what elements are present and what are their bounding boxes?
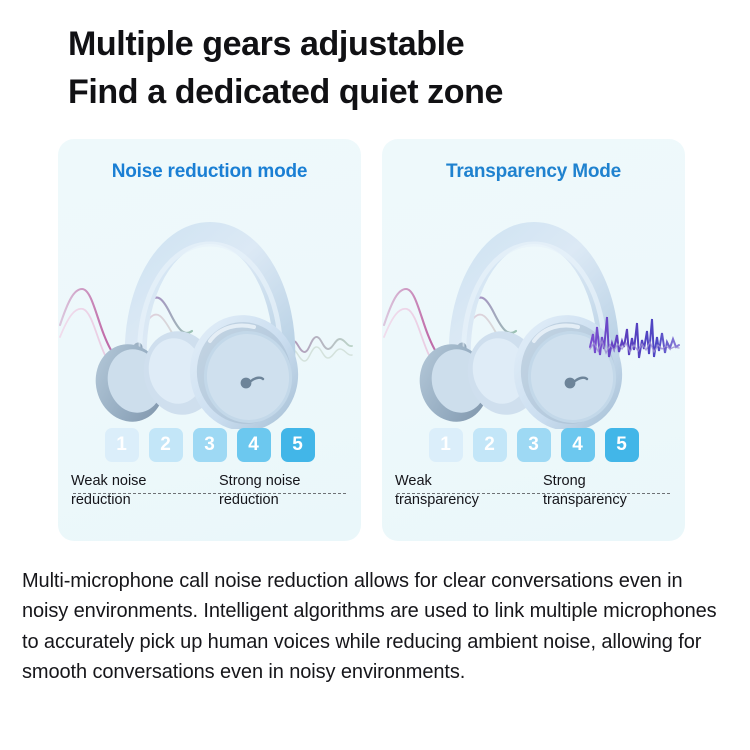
- caption-weak-line-1: Weak: [395, 472, 479, 491]
- caption-weak-line-1: Weak noise: [71, 472, 147, 491]
- gear-tile-2[interactable]: 2: [473, 428, 507, 462]
- gear-tile-2-label: 2: [484, 434, 495, 456]
- gear-tile-3[interactable]: 3: [193, 428, 227, 462]
- gear-tile-3-label: 3: [204, 434, 215, 456]
- card-title-transparency: Transparency Mode: [382, 161, 685, 183]
- gear-tile-3[interactable]: 3: [517, 428, 551, 462]
- gear-tile-4[interactable]: 4: [561, 428, 595, 462]
- caption-strong-line-1: Strong: [543, 472, 627, 491]
- scale-captions-transparency: Weak transparency Strong transparency: [395, 472, 672, 522]
- gear-tile-5-label: 5: [616, 434, 627, 456]
- card-noise-reduction-mode[interactable]: Noise reduction mode: [58, 139, 361, 541]
- gear-tile-5-label: 5: [292, 434, 303, 456]
- gear-tile-2[interactable]: 2: [149, 428, 183, 462]
- scale-divider-line: [397, 493, 670, 494]
- heading-line-2: Find a dedicated quiet zone: [68, 68, 708, 116]
- gear-tile-2-label: 2: [160, 434, 171, 456]
- scale-captions-noise-reduction: Weak noise reduction Strong noise reduct…: [71, 472, 348, 522]
- caption-strong-transparency: Strong transparency: [543, 472, 627, 511]
- gear-tile-5[interactable]: 5: [281, 428, 315, 462]
- gear-tile-4-label: 4: [248, 434, 259, 456]
- gear-tile-1-label: 1: [440, 434, 451, 456]
- caption-strong-noise-reduction: Strong noise reduction: [219, 472, 300, 511]
- product-feature-panel: Multiple gears adjustable Find a dedicat…: [0, 0, 750, 750]
- gear-tile-1[interactable]: 1: [105, 428, 139, 462]
- card-transparency-mode[interactable]: Transparency Mode: [382, 139, 685, 541]
- card-title-noise-reduction: Noise reduction mode: [58, 161, 361, 183]
- scale-divider-line: [73, 493, 346, 494]
- caption-weak-line-2: reduction: [71, 491, 147, 510]
- caption-weak-line-2: transparency: [395, 491, 479, 510]
- gear-tiles-noise-reduction: 1 2 3 4 5: [58, 428, 361, 462]
- caption-strong-line-2: transparency: [543, 491, 627, 510]
- caption-weak-noise-reduction: Weak noise reduction: [71, 472, 147, 511]
- page-title: Multiple gears adjustable Find a dedicat…: [68, 20, 708, 117]
- caption-strong-line-1: Strong noise: [219, 472, 300, 491]
- description-paragraph: Multi-microphone call noise reduction al…: [22, 566, 734, 688]
- gear-tile-1-label: 1: [116, 434, 127, 456]
- gear-tile-5[interactable]: 5: [605, 428, 639, 462]
- caption-strong-line-2: reduction: [219, 491, 300, 510]
- gear-tile-1[interactable]: 1: [429, 428, 463, 462]
- heading-line-1: Multiple gears adjustable: [68, 20, 708, 68]
- gear-tiles-transparency: 1 2 3 4 5: [382, 428, 685, 462]
- caption-weak-transparency: Weak transparency: [395, 472, 479, 511]
- headphones-graphic: [88, 233, 308, 429]
- gear-tile-3-label: 3: [528, 434, 539, 456]
- transparency-illustration: [382, 197, 685, 429]
- gear-tile-4[interactable]: 4: [237, 428, 271, 462]
- noise-reduction-illustration: [58, 197, 361, 429]
- mode-cards-row: Noise reduction mode: [58, 139, 686, 541]
- gear-tile-4-label: 4: [572, 434, 583, 456]
